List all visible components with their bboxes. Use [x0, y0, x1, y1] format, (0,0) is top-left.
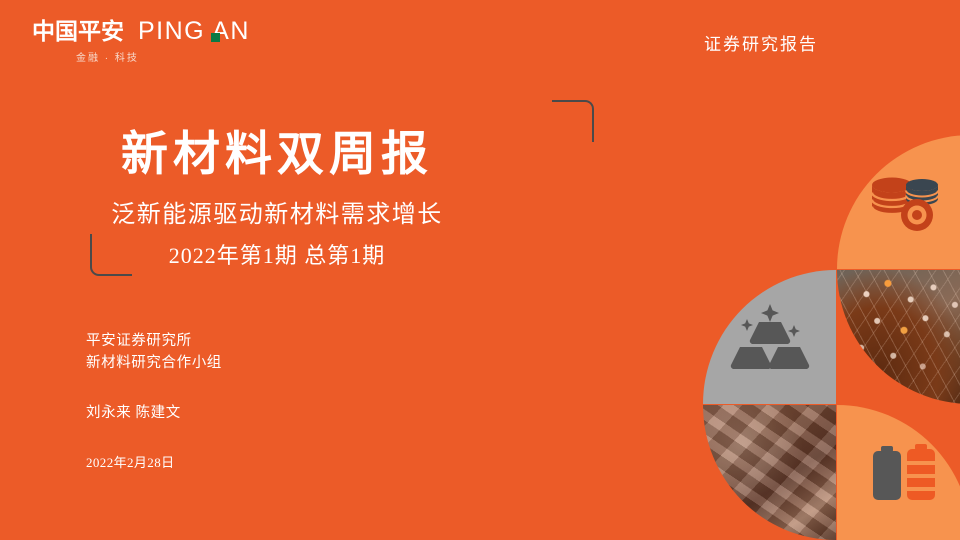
logo-english-text: PING AN: [138, 17, 250, 45]
logo-green-square-icon: [211, 33, 220, 42]
page-subtitle: 泛新能源驱动新材料需求增长: [0, 199, 554, 231]
issue-number-label: 2022年第1期 总第1期: [0, 241, 554, 271]
mineral-crystal-photo: [703, 405, 836, 540]
battery-pair-icon: [871, 444, 937, 502]
graphene-molecule-photo: [837, 270, 960, 404]
author-block: 平安证券研究所 新材料研究合作小组 刘永来 陈建文 2022年2月28日: [86, 330, 222, 471]
author-names: 刘永来 陈建文: [86, 401, 222, 422]
battery-tile: [837, 405, 960, 540]
publish-date: 2022年2月28日: [86, 452, 222, 471]
logo-tagline: 金融 · 科技: [76, 49, 292, 64]
presentation-title-slide: 中国平安 PING AN 金融 · 科技 证券研究报告 新材料双周报 泛新能源驱…: [0, 0, 960, 540]
mineral-crystal-photo-tile: [703, 405, 836, 540]
institute-name: 平安证券研究所: [86, 330, 222, 352]
image-mosaic-grid: [555, 0, 960, 540]
gold-bars-tile: [703, 270, 836, 404]
coins-stack-tile: [837, 135, 960, 269]
page-title: 新材料双周报: [0, 128, 554, 183]
logo-english-name: PING AN: [138, 18, 250, 44]
title-block: 新材料双周报 泛新能源驱动新材料需求增长 2022年第1期 总第1期: [0, 128, 554, 271]
ping-an-logo: 中国平安 PING AN 金融 · 科技: [32, 18, 292, 64]
logo-chinese-name: 中国平安: [32, 18, 124, 44]
team-name: 新材料研究合作小组: [86, 352, 222, 374]
logo-wordmark-row: 中国平安 PING AN: [32, 18, 292, 44]
molecule-structure-photo-tile: [837, 270, 960, 404]
coin-stack-icon: [866, 171, 942, 233]
gold-bars-icon: [728, 302, 812, 372]
